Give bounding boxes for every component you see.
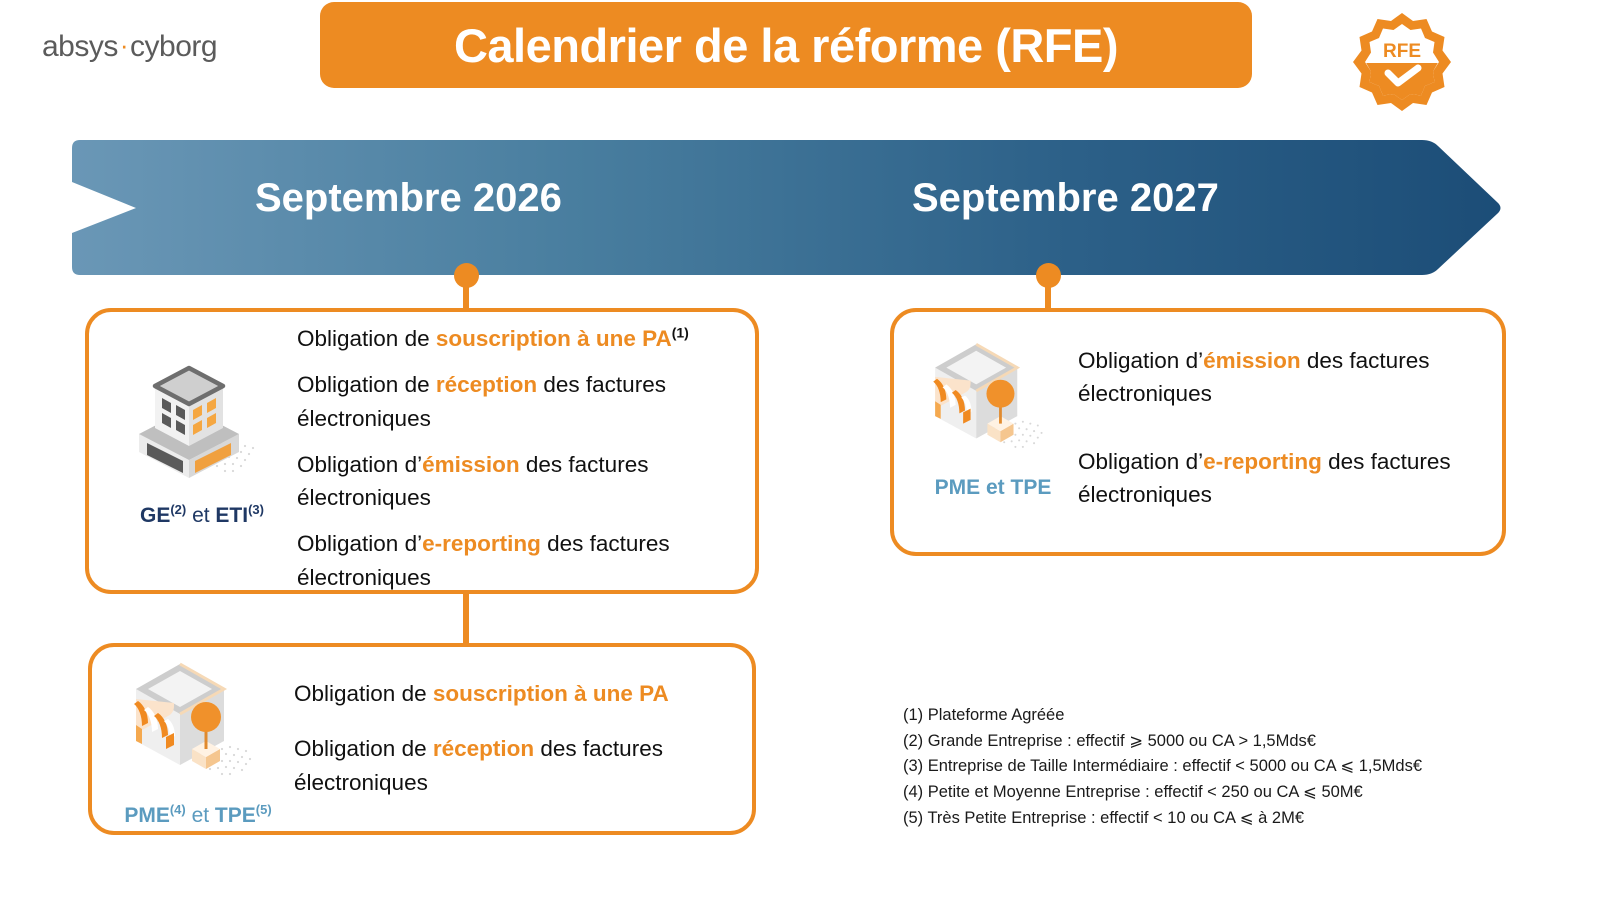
footnote-item: (1) Plateforme Agréée: [903, 703, 1543, 729]
obligation-highlight: émission: [422, 452, 520, 477]
brand-logo-part1: absys: [42, 30, 118, 63]
timeline-ribbon: Septembre 2026 Septembre 2027: [72, 140, 1504, 275]
page-title-banner: Calendrier de la réforme (RFE): [320, 2, 1252, 88]
card-ge-eti: GE(2) et ETI(3) Obligation de souscripti…: [85, 308, 759, 594]
obligation-prefix: Obligation d’: [297, 452, 422, 477]
obligation-highlight: réception: [433, 736, 534, 761]
obligation-highlight: émission: [1203, 348, 1301, 373]
timeline-milestone-label-2027: Septembre 2027: [912, 176, 1219, 221]
card-ge-eti-obligations: Obligation de souscription à une PA(1) O…: [297, 312, 755, 594]
timeline-milestone-label-2026: Septembre 2026: [255, 176, 562, 221]
check-seal-icon: [1353, 13, 1451, 111]
brand-logo: absys·cyborg: [42, 30, 217, 64]
obligation-item: Obligation de souscription à une PA(1): [297, 322, 741, 355]
office-building-icon: [127, 342, 277, 487]
card-pme-tpe-2026-obligations: Obligation de souscription à une PA Obli…: [294, 647, 752, 799]
entity-abbr-pme: PME: [124, 804, 170, 827]
obligation-highlight: e-reporting: [1203, 449, 1322, 474]
entity-abbr-pme: PME: [935, 476, 981, 499]
footnote-item: (5) Très Petite Entreprise : effectif < …: [903, 806, 1543, 832]
card-pme-tpe-2027-icon-column: PME et TPE: [894, 312, 1078, 498]
entity-conjunction-pme-tpe: et: [980, 476, 1010, 499]
connector-stem-between-cards: [463, 591, 469, 645]
obligation-prefix: Obligation de: [294, 736, 433, 761]
entity-sup-tpe: (5): [256, 802, 272, 817]
entity-sup-ge: (2): [170, 502, 186, 517]
obligation-prefix: Obligation d’: [297, 531, 422, 556]
obligation-item: Obligation de réception des factures éle…: [297, 368, 741, 435]
storefront-icon: [918, 334, 1068, 465]
obligation-prefix: Obligation d’: [1078, 449, 1203, 474]
obligation-highlight: réception: [436, 372, 537, 397]
card-pme-tpe-2026-icon-column: PME(4) et TPE(5): [92, 647, 294, 826]
card-pme-tpe-2026-entity-label: PME(4) et TPE(5): [124, 803, 271, 826]
obligation-item: Obligation de réception des factures éle…: [294, 732, 738, 799]
obligation-highlight: souscription à une PA: [436, 326, 672, 351]
entity-sup-pme: (4): [170, 802, 186, 817]
obligation-highlight: e-reporting: [422, 531, 541, 556]
brand-logo-part2: cyborg: [130, 30, 217, 63]
rfe-seal-badge: RFE: [1350, 10, 1454, 114]
card-pme-tpe-2027-entity-label: PME et TPE: [935, 475, 1052, 498]
card-ge-eti-entity-label: GE(2) et ETI(3): [140, 503, 264, 526]
entity-sup-eti: (3): [248, 502, 264, 517]
obligation-prefix: Obligation de: [297, 326, 436, 351]
obligation-item: Obligation d’e-reporting des factures él…: [297, 527, 741, 594]
obligation-highlight: souscription à une PA: [433, 681, 669, 706]
rfe-badge-text: RFE: [1383, 41, 1421, 62]
entity-abbr-ge: GE: [140, 504, 170, 527]
footnote-item: (2) Grande Entreprise : effectif ⩾ 5000 …: [903, 729, 1543, 755]
obligation-prefix: Obligation d’: [1078, 348, 1203, 373]
page-header: absys·cyborg Calendrier de la réforme (R…: [0, 0, 1600, 130]
entity-conjunction-ge-eti: et: [186, 504, 215, 527]
entity-conjunction-pme-tpe: et: [186, 804, 215, 827]
footnote-item: (4) Petite et Moyenne Entreprise : effec…: [903, 780, 1543, 806]
card-ge-eti-icon-column: GE(2) et ETI(3): [89, 312, 297, 526]
page-title: Calendrier de la réforme (RFE): [454, 18, 1118, 73]
footnotes-block: (1) Plateforme Agréée (2) Grande Entrepr…: [903, 703, 1543, 832]
entity-abbr-eti: ETI: [215, 504, 248, 527]
connector-dot-2026: [454, 263, 479, 288]
entity-abbr-tpe: TPE: [1011, 476, 1052, 499]
card-pme-tpe-2027: PME et TPE Obligation d’émission des fac…: [890, 308, 1506, 556]
obligation-item: Obligation d’émission des factures élect…: [297, 448, 741, 515]
card-pme-tpe-2027-obligations: Obligation d’émission des factures élect…: [1078, 312, 1522, 511]
storefront-icon: [118, 653, 278, 793]
connector-dot-2027: [1036, 263, 1061, 288]
obligation-prefix: Obligation de: [294, 681, 433, 706]
obligation-item: Obligation d’émission des factures élect…: [1078, 344, 1518, 411]
card-pme-tpe-2026: PME(4) et TPE(5) Obligation de souscript…: [88, 643, 756, 835]
obligation-footnote-ref: (1): [672, 325, 689, 341]
entity-abbr-tpe: TPE: [215, 804, 256, 827]
obligation-item: Obligation d’e-reporting des factures él…: [1078, 445, 1518, 512]
obligation-prefix: Obligation de: [297, 372, 436, 397]
footnote-item: (3) Entreprise de Taille Intermédiaire :…: [903, 754, 1543, 780]
brand-logo-dot-icon: ·: [118, 30, 130, 60]
obligation-item: Obligation de souscription à une PA: [294, 677, 738, 710]
